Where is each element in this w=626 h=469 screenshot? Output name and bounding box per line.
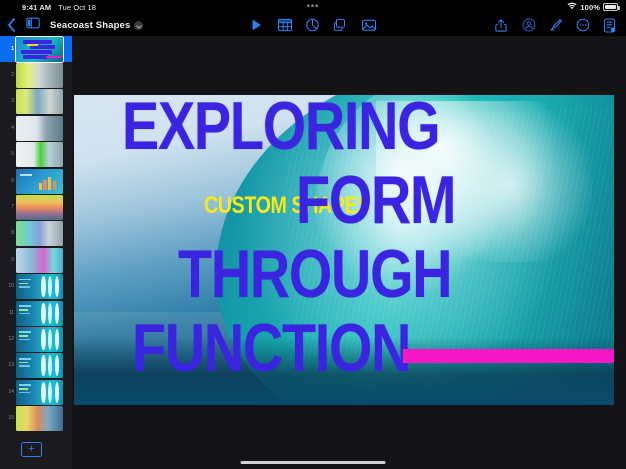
- slide-number-label: 8: [0, 231, 16, 236]
- accent-bar-shape[interactable]: [403, 349, 614, 363]
- slide-thumbnail-preview[interactable]: [16, 89, 63, 114]
- headline-line-4[interactable]: FUNCTION: [132, 321, 410, 377]
- share-icon: [495, 18, 510, 33]
- insert-shape-button[interactable]: [334, 14, 349, 36]
- title-status-badge[interactable]: [134, 21, 143, 30]
- insert-media-button[interactable]: [362, 14, 377, 36]
- slide-number-label: 6: [0, 179, 16, 184]
- insert-chart-button[interactable]: [306, 14, 321, 36]
- status-dots: •••: [307, 2, 319, 11]
- add-slide-button[interactable]: +: [21, 442, 42, 457]
- play-button[interactable]: [250, 14, 265, 36]
- comment-icon: [576, 18, 591, 33]
- slide-thumbnail-preview[interactable]: [16, 353, 63, 378]
- play-icon: [250, 18, 265, 33]
- wifi-icon: [567, 2, 577, 12]
- slide-thumbnail-8[interactable]: 8: [0, 221, 72, 247]
- slide-thumbnail-13[interactable]: 13: [0, 353, 72, 379]
- slide-thumbnail-12[interactable]: 12: [0, 326, 72, 352]
- chart-icon: [306, 18, 321, 33]
- battery-icon: [603, 3, 618, 11]
- chevron-left-icon: [7, 18, 16, 32]
- slide-number-label: 5: [0, 152, 16, 157]
- slide-thumbnail-14[interactable]: 14: [0, 379, 72, 405]
- slide-number-label: 13: [0, 363, 16, 368]
- status-time: 9:41 AM: [22, 3, 51, 12]
- slide-thumbnail-preview[interactable]: [16, 169, 63, 194]
- slide-thumbnail-7[interactable]: 7: [0, 194, 72, 220]
- battery-percent: 100%: [580, 3, 600, 12]
- headline-line-3[interactable]: THROUGH: [178, 247, 451, 303]
- slide-number-label: 9: [0, 258, 16, 263]
- document-options-icon: [603, 18, 618, 33]
- slide-number-label: 3: [0, 99, 16, 104]
- slide-number-label: 7: [0, 205, 16, 210]
- status-bar: 9:41 AM Tue Oct 18 ••• 100%: [0, 0, 626, 14]
- slide-thumbnail-preview[interactable]: [16, 406, 63, 431]
- sidebar-toggle-icon: [26, 16, 40, 34]
- slide-thumbnail-preview[interactable]: [16, 274, 63, 299]
- slide-navigator[interactable]: 123456789101112131415 +: [0, 36, 72, 469]
- collaborate-button[interactable]: [522, 14, 537, 36]
- slide-thumbnail-preview[interactable]: [16, 380, 63, 405]
- slide-thumbnail-preview[interactable]: [16, 195, 63, 220]
- slide-thumbnail-15[interactable]: 15: [0, 405, 72, 431]
- document-options-button[interactable]: [603, 14, 618, 36]
- slide-1[interactable]: EXPLORING CUSTOM SHAPES FORM THROUGH FUN…: [74, 95, 614, 405]
- collaborate-icon: [522, 18, 537, 33]
- share-button[interactable]: [495, 14, 510, 36]
- slide-number-label: 1: [0, 47, 16, 52]
- slide-number-label: 12: [0, 337, 16, 342]
- slide-number-label: 2: [0, 73, 16, 78]
- slide-thumbnail-preview[interactable]: [16, 116, 63, 141]
- slide-thumbnail-9[interactable]: 9: [0, 247, 72, 273]
- table-icon: [278, 18, 293, 33]
- format-button[interactable]: [549, 14, 564, 36]
- add-slide-label: +: [28, 444, 34, 455]
- slide-thumbnail-preview[interactable]: [16, 248, 63, 273]
- slide-thumbnail-11[interactable]: 11: [0, 300, 72, 326]
- slide-number-label: 14: [0, 390, 16, 395]
- back-button[interactable]: [0, 14, 22, 36]
- slide-number-label: 15: [0, 416, 16, 421]
- slide-canvas[interactable]: EXPLORING CUSTOM SHAPES FORM THROUGH FUN…: [72, 36, 626, 469]
- headline-line-1[interactable]: EXPLORING: [122, 99, 439, 155]
- headline-line-2[interactable]: FORM: [296, 173, 455, 229]
- slide-number-label: 11: [0, 311, 16, 316]
- main-toolbar: Seacoast Shapes: [0, 14, 626, 36]
- slide-thumbnail-preview[interactable]: [16, 221, 63, 246]
- slide-thumbnail-5[interactable]: 5: [0, 142, 72, 168]
- format-brush-icon: [549, 18, 564, 33]
- chevron-down-icon: [136, 16, 142, 34]
- status-right-cluster: 100%: [567, 2, 618, 12]
- slide-thumbnail-preview[interactable]: [16, 63, 63, 88]
- toolbar-right-group: [495, 14, 618, 36]
- slide-number-label: 10: [0, 284, 16, 289]
- slide-thumbnail-preview[interactable]: [16, 301, 63, 326]
- toolbar-center-group: [250, 14, 377, 36]
- page-title[interactable]: Seacoast Shapes: [50, 20, 130, 31]
- slide-thumbnail-preview[interactable]: [16, 327, 63, 352]
- shape-icon: [334, 18, 349, 33]
- home-indicator: [241, 461, 386, 464]
- slide-thumbnail-4[interactable]: 4: [0, 115, 72, 141]
- media-icon: [362, 18, 377, 33]
- slide-thumbnail-preview[interactable]: [16, 37, 63, 62]
- toolbar-left-group: Seacoast Shapes: [0, 14, 143, 36]
- slide-thumbnail-1[interactable]: 1: [0, 36, 72, 62]
- slide-thumbnail-6[interactable]: 6: [0, 168, 72, 194]
- slide-thumbnail-2[interactable]: 2: [0, 62, 72, 88]
- slide-thumbnail-preview[interactable]: [16, 142, 63, 167]
- slide-thumbnail-10[interactable]: 10: [0, 274, 72, 300]
- insert-table-button[interactable]: [278, 14, 293, 36]
- status-date: Tue Oct 18: [58, 3, 96, 12]
- keynote-app-window: 9:41 AM Tue Oct 18 ••• 100%: [0, 0, 626, 469]
- comment-button[interactable]: [576, 14, 591, 36]
- slide-thumbnail-3[interactable]: 3: [0, 89, 72, 115]
- sidebar-toggle-button[interactable]: [22, 14, 44, 36]
- slide-number-label: 4: [0, 126, 16, 131]
